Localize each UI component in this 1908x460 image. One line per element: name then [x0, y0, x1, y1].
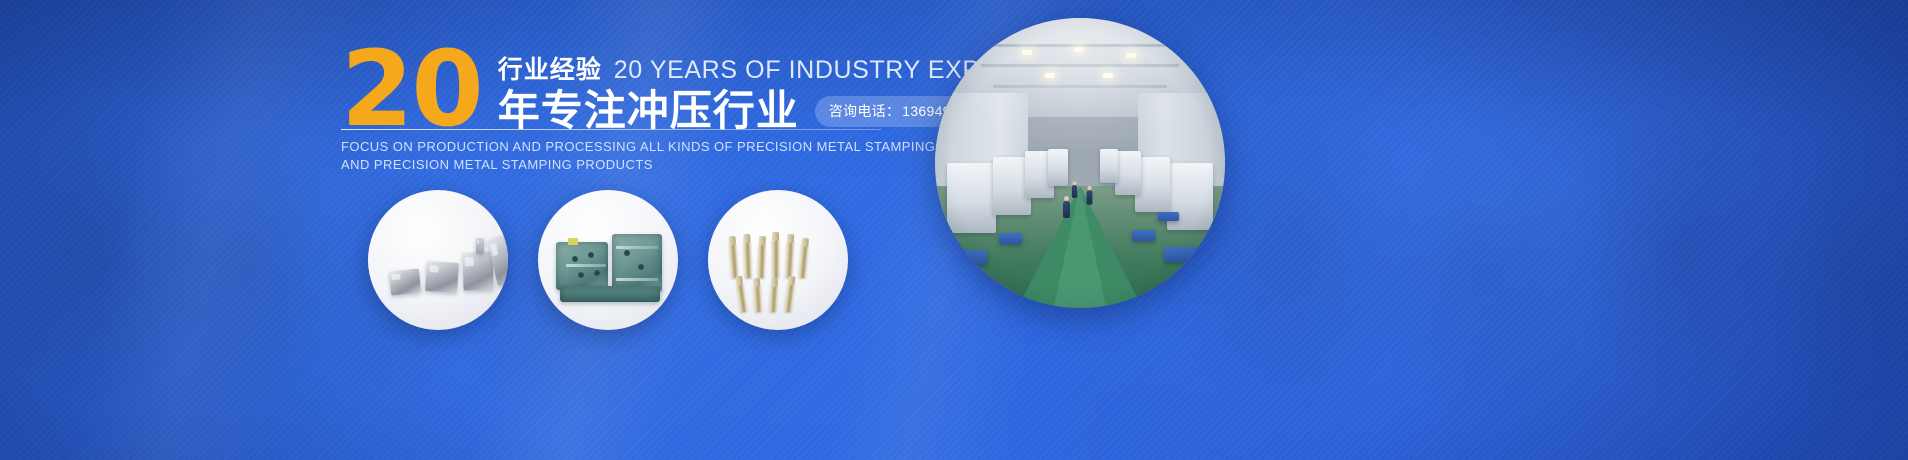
photo-vignette	[935, 18, 1225, 308]
cn-tagline-big: 年专注冲压行业	[498, 89, 799, 133]
connector-tab	[476, 238, 484, 254]
terminal-pin	[784, 282, 795, 313]
mold-cavity	[624, 250, 630, 256]
factory-photo-inner	[935, 18, 1225, 308]
cn-tagline-small: 行业经验	[498, 50, 602, 86]
divider-rule	[341, 129, 881, 130]
terminal-pin	[729, 242, 738, 278]
mold-rail	[566, 264, 606, 267]
mold-block	[612, 234, 662, 292]
promo-banner: 20 行业经验 20 YEARS OF INDUSTRY EXPERIENCE …	[0, 0, 1908, 460]
product-image-connectors	[368, 190, 508, 330]
product-image-pins	[708, 190, 848, 330]
mold-cavity	[572, 256, 578, 262]
mold-marker	[568, 238, 578, 245]
description-line-1: FOCUS ON PRODUCTION AND PROCESSING ALL K…	[341, 138, 901, 156]
terminal-pin	[753, 284, 761, 312]
terminal-pin	[772, 238, 779, 278]
phone-badge-label: 咨询电话：	[829, 101, 901, 121]
mold-cavity	[588, 252, 594, 258]
terminal-pin	[743, 240, 751, 278]
mold-cavity	[578, 272, 584, 278]
terminal-pin	[736, 282, 747, 313]
terminal-pin	[785, 240, 794, 278]
terminal-pin	[799, 244, 809, 278]
connector-part	[425, 261, 459, 293]
connector-part	[389, 268, 421, 295]
connector-part	[462, 251, 493, 290]
terminal-pin	[769, 284, 777, 312]
description-line-2: AND PRECISION METAL STAMPING PRODUCTS	[341, 156, 901, 174]
mold-base	[560, 286, 660, 302]
years-number: 20	[341, 46, 482, 133]
mold-cavity	[594, 270, 600, 276]
terminal-pin	[757, 242, 765, 278]
description-text: FOCUS ON PRODUCTION AND PROCESSING ALL K…	[341, 138, 901, 175]
mold-rail	[616, 278, 658, 281]
mold-rail	[616, 246, 658, 249]
banner-content: 20 行业经验 20 YEARS OF INDUSTRY EXPERIENCE …	[0, 0, 1908, 460]
factory-photo-circle	[935, 18, 1225, 308]
product-image-mold	[538, 190, 678, 330]
mold-cavity	[638, 264, 644, 270]
